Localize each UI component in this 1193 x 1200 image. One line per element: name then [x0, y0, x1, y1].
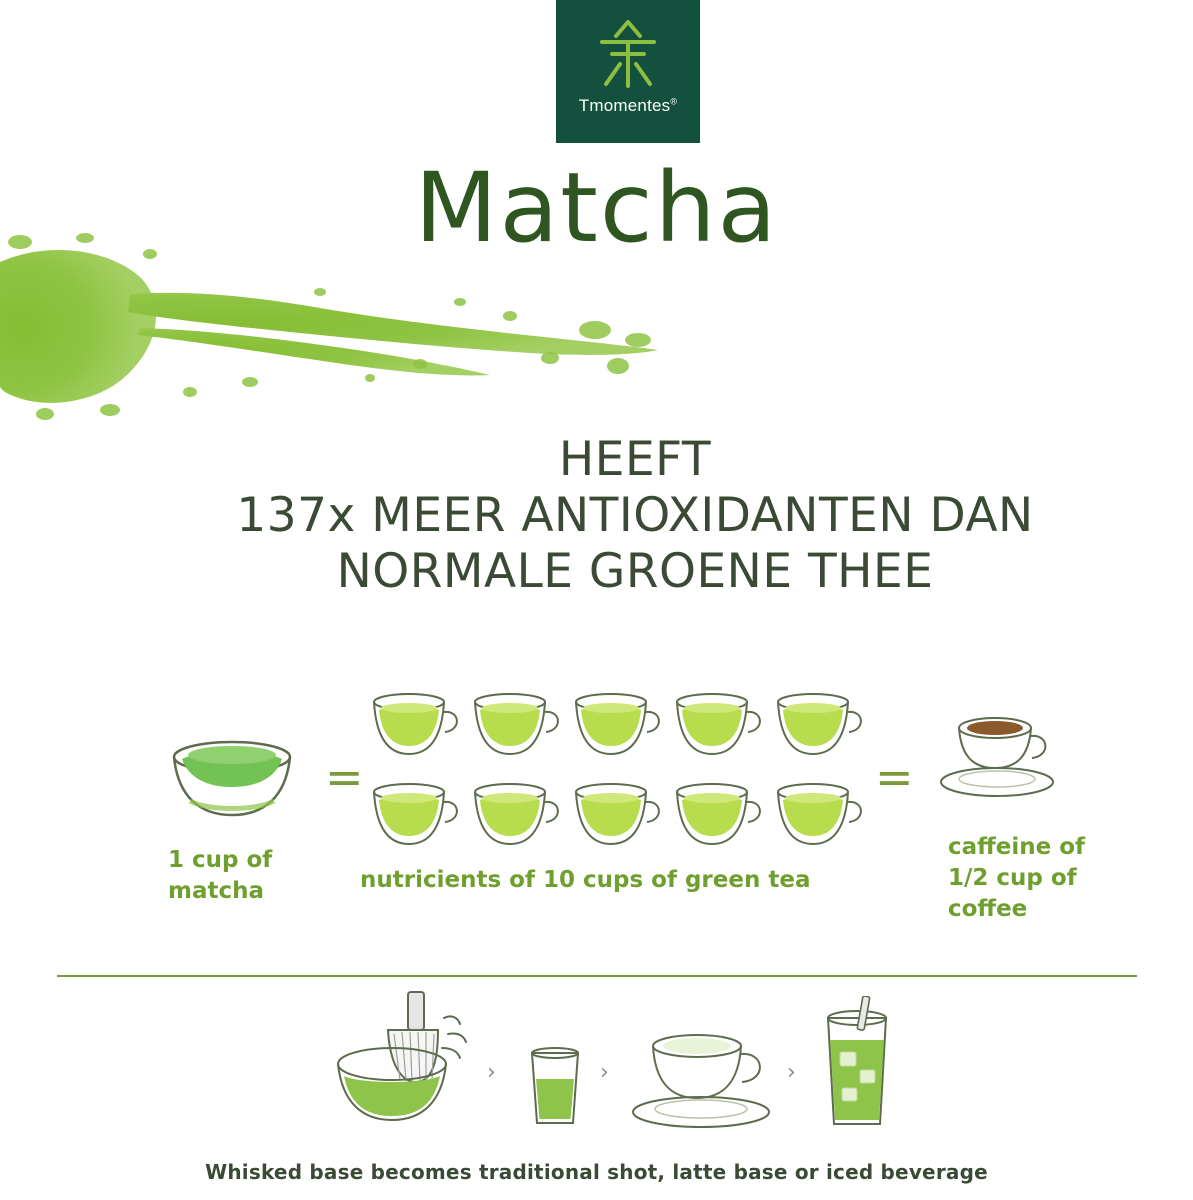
- headline-line-3: NORMALE GROENE THEE: [80, 544, 1190, 600]
- caption-matcha-line-2: matcha: [168, 878, 264, 904]
- coffee-cup-icon: [935, 700, 1070, 820]
- trademark-symbol: ®: [670, 96, 677, 106]
- headline: HEEFT 137x MEER ANTIOXIDANTEN DAN NORMAL…: [80, 432, 1190, 600]
- green-tea-cup-icon: [769, 680, 870, 770]
- green-tea-cup-icon: [567, 770, 668, 860]
- caption-matcha-line-1: 1 cup of: [168, 847, 272, 873]
- caption-coffee: caffeine of 1/2 cup of coffee: [948, 832, 1138, 925]
- brand-name: Tmomentes®: [579, 96, 677, 116]
- headline-line-1: HEEFT: [80, 432, 1190, 488]
- process-caption: Whisked base becomes traditional shot, l…: [0, 1160, 1193, 1184]
- headline-line-2: 137x MEER ANTIOXIDANTEN DAN: [80, 488, 1190, 544]
- equation-row: = = 1 cup of matc: [0, 660, 1193, 950]
- tea-kanji-icon: [590, 16, 666, 92]
- process-arrow-3: ›: [787, 1060, 796, 1085]
- green-tea-cup-icon: [466, 680, 567, 770]
- green-tea-cup-icon: [668, 770, 769, 860]
- caption-coffee-line-3: coffee: [948, 896, 1027, 922]
- caption-matcha: 1 cup of matcha: [168, 845, 348, 907]
- equals-sign-1: =: [325, 750, 364, 804]
- green-tea-cup-icon: [365, 680, 466, 770]
- green-tea-cup-icon: [466, 770, 567, 860]
- green-tea-cup-icon: [365, 770, 466, 860]
- process-arrow-1: ›: [487, 1060, 496, 1085]
- caption-nutrients: nutricients of 10 cups of green tea: [360, 865, 880, 896]
- green-tea-cup-icon: [668, 680, 769, 770]
- iced-beverage-icon: [812, 996, 902, 1131]
- infographic-page: Tmomentes® Matcha: [0, 0, 1193, 1200]
- green-tea-cups-group: [365, 680, 870, 860]
- process-row: › › ›: [0, 990, 1193, 1140]
- caption-coffee-line-1: caffeine of: [948, 834, 1085, 860]
- green-tea-cup-icon: [567, 680, 668, 770]
- process-arrow-2: ›: [600, 1060, 609, 1085]
- equals-sign-2: =: [875, 750, 914, 804]
- whisk-bowl-icon: [330, 990, 480, 1132]
- green-tea-cup-icon: [769, 770, 870, 860]
- latte-cup-icon: [625, 1020, 790, 1130]
- section-divider: [57, 975, 1137, 977]
- caption-coffee-line-2: 1/2 cup of: [948, 865, 1077, 891]
- matcha-bowl-icon: [160, 715, 305, 825]
- matcha-powder-splash-image: [0, 232, 690, 427]
- shot-glass-icon: [520, 1045, 590, 1130]
- brand-logo: Tmomentes®: [556, 0, 700, 143]
